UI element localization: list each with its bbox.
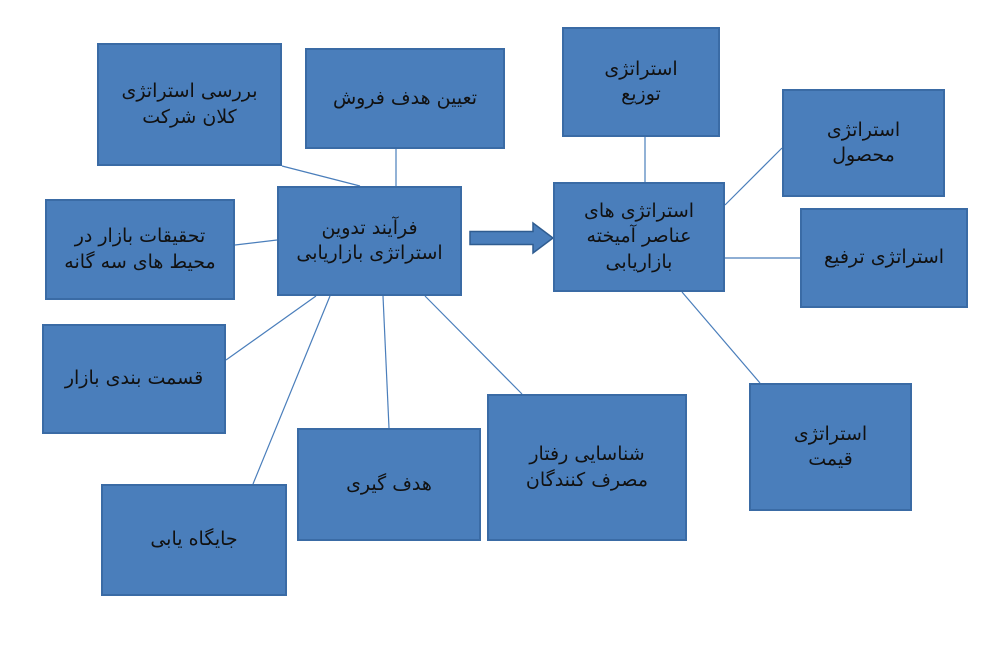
node-mix-elements-hub[interactable]: استراتژی های عناصر آمیخته بازاریابی — [553, 182, 725, 292]
edge-segmentation-to-hub — [226, 296, 316, 360]
node-consumer-behavior[interactable]: شناسایی رفتار مصرف کنندگان — [487, 394, 687, 541]
node-corp-strategy-review[interactable]: بررسی استراتژی کلان شرکت — [97, 43, 282, 166]
edge-market-research-to-hub — [235, 240, 277, 245]
node-product-strategy[interactable]: استراتژی محصول — [782, 89, 945, 197]
edge-corp-strategy-to-hub — [282, 166, 360, 186]
edge-price-to-mix — [682, 292, 760, 383]
node-sales-target[interactable]: تعیین هدف فروش — [305, 48, 505, 149]
edge-targeting-to-hub — [383, 296, 389, 428]
node-price-strategy[interactable]: استراتژی قیمت — [749, 383, 912, 511]
node-promotion-strategy[interactable]: استراتژی ترفیع — [800, 208, 968, 308]
edge-consumer-behavior-to-hub — [425, 296, 522, 394]
diagram-canvas: بررسی استراتژی کلان شرکتتعیین هدف فروشاس… — [0, 0, 984, 648]
arrow-edge-hub-to-mix — [470, 223, 553, 253]
edge-product-to-mix — [725, 148, 782, 205]
node-process-hub[interactable]: فرآیند تدوین استراتژی بازاریابی — [277, 186, 462, 296]
node-market-segmentation[interactable]: قسمت بندی بازار — [42, 324, 226, 434]
node-targeting[interactable]: هدف گیری — [297, 428, 481, 541]
node-positioning[interactable]: جایگاه یابی — [101, 484, 287, 596]
flow-arrow — [470, 223, 553, 253]
node-distribution-strategy[interactable]: استراتژی توزیع — [562, 27, 720, 137]
node-market-research[interactable]: تحقیقات بازار در محیط های سه گانه — [45, 199, 235, 300]
